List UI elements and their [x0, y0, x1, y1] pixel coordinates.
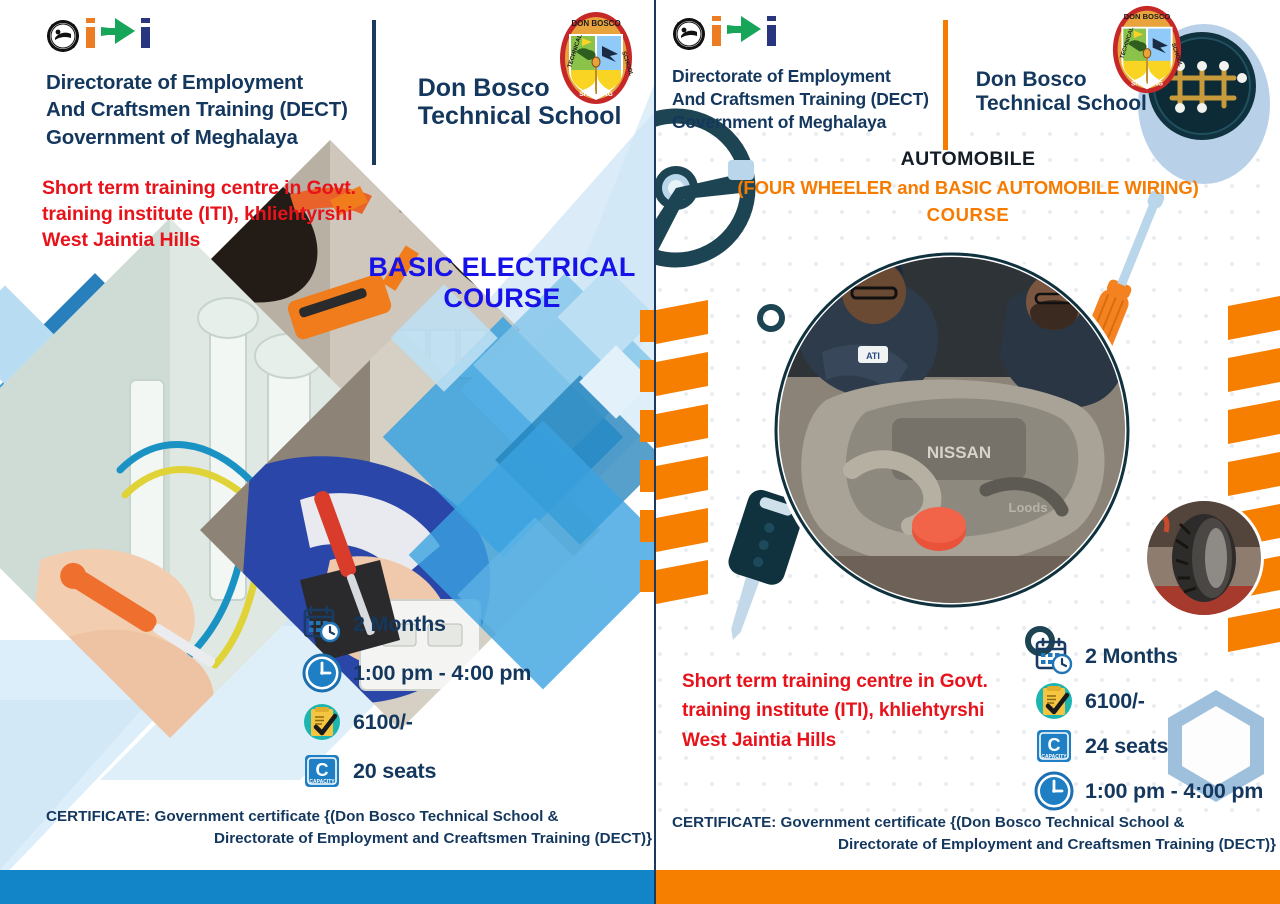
info-label-capacity: 24 seats [1085, 734, 1168, 759]
iti-letter-t-green-icon [101, 18, 135, 53]
location-line-3: West Jaintia Hills [42, 228, 472, 254]
iti-letter-i-orange-icon [85, 18, 96, 53]
svg-text:SHILLONG: SHILLONG [1131, 81, 1163, 88]
info-label-timing: 1:00 pm - 4:00 pm [1085, 779, 1263, 804]
right-header: Directorate of Employment And Craftsmen … [656, 0, 1280, 150]
clock-icon [302, 653, 342, 693]
capacity-icon: C CAPACITY [1034, 726, 1074, 766]
iti-letter-i-orange-icon [711, 16, 722, 51]
iti-logo [46, 18, 348, 53]
don-bosco-crest: DON BOSCO SHILLONG TECHNICAL SCHOOL [558, 8, 634, 108]
svg-text:C: C [1048, 735, 1061, 755]
left-course-flyer: Directorate of Employment And Craftsmen … [0, 0, 656, 904]
svg-text:C: C [316, 760, 329, 780]
left-certificate-text: CERTIFICATE: Government certificate {(Do… [38, 806, 652, 849]
svg-text:NISSAN: NISSAN [927, 443, 991, 462]
iti-logo [672, 16, 929, 51]
right-bottom-bar [656, 870, 1280, 904]
location-line-3: West Jaintia Hills [682, 726, 1042, 755]
info-label-fees: 6100/- [1085, 689, 1145, 714]
info-row-duration: 2 Months [302, 604, 531, 644]
svg-text:DON BOSCO: DON BOSCO [1124, 12, 1171, 21]
right-dept-block: Directorate of Employment And Craftsmen … [672, 16, 929, 134]
dept-line-3: Government of Meghalaya [672, 111, 929, 134]
svg-text:CAPACITY: CAPACITY [309, 779, 335, 785]
calendar-clock-icon [302, 604, 342, 644]
right-location-text: Short term training centre in Govt. trai… [682, 667, 1042, 755]
info-label-capacity: 20 seats [353, 759, 436, 784]
location-line-2: training institute (ITI), khliehtyrshi [42, 202, 472, 228]
right-info-list: 2 Months 6100/- [1034, 636, 1263, 816]
iti-letter-i-navy-icon [766, 16, 777, 51]
info-row-capacity: C CAPACITY 20 seats [302, 751, 531, 791]
right-header-divider [943, 20, 948, 150]
info-row-timing: 1:00 pm - 4:00 pm [1034, 771, 1263, 811]
left-header-divider [372, 20, 376, 165]
poster-root: Directorate of Employment And Craftsmen … [0, 0, 1280, 904]
info-label-duration: 2 Months [353, 612, 446, 637]
clock-icon [1034, 771, 1074, 811]
left-dept-block: Directorate of Employment And Craftsmen … [46, 18, 348, 151]
location-line-1: Short term training centre in Govt. [42, 176, 472, 202]
certificate-line-2: Directorate of Employment and Creaftsmen… [666, 834, 1276, 856]
svg-text:Loods: Loods [1009, 500, 1048, 515]
dept-line-2: And Craftsmen Training (DECT) [46, 96, 348, 123]
fees-icon [302, 702, 342, 742]
iti-gear-emblem-icon [672, 17, 706, 51]
info-row-capacity: C CAPACITY 24 seats [1034, 726, 1263, 766]
dept-line-1: Directorate of Employment [672, 65, 929, 88]
left-location-text: Short term training centre in Govt. trai… [42, 176, 472, 254]
location-line-1: Short term training centre in Govt. [682, 667, 1042, 696]
certificate-line-1: CERTIFICATE: Government certificate {(Do… [38, 806, 652, 828]
location-line-2: training institute (ITI), khliehtyrshi [682, 696, 1042, 725]
left-info-list: 2 Months 1:00 pm - 4:00 pm [302, 604, 531, 800]
left-dept-name: Directorate of Employment And Craftsmen … [46, 69, 348, 151]
right-course-title: AUTOMOBILE (FOUR WHEELER and BASIC AUTOM… [656, 148, 1280, 226]
don-bosco-crest: DON BOSCO SHILLONG TECHNICAL SCHOOL [1111, 2, 1183, 97]
left-course-title: BASIC ELECTRICAL COURSE [352, 252, 652, 314]
left-bottom-bar [0, 870, 654, 904]
info-row-fees: 6100/- [1034, 681, 1263, 721]
info-label-fees: 6100/- [353, 710, 413, 735]
capacity-icon: C CAPACITY [302, 751, 342, 791]
certificate-line-2: Directorate of Employment and Creaftsmen… [38, 828, 652, 850]
fees-icon [1034, 681, 1074, 721]
svg-text:SHILLONG: SHILLONG [579, 91, 613, 98]
svg-text:DON BOSCO: DON BOSCO [571, 19, 620, 28]
svg-text:CAPACITY: CAPACITY [1041, 754, 1067, 760]
svg-text:ATI: ATI [866, 351, 880, 361]
iti-letter-i-navy-icon [140, 18, 151, 53]
dept-line-2: And Craftsmen Training (DECT) [672, 88, 929, 111]
course-title-line-3: COURSE [656, 204, 1280, 226]
calendar-clock-icon [1034, 636, 1074, 676]
dept-line-1: Directorate of Employment [46, 69, 348, 96]
info-row-fees: 6100/- [302, 702, 531, 742]
info-row-timing: 1:00 pm - 4:00 pm [302, 653, 531, 693]
iti-gear-emblem-icon [46, 19, 80, 53]
certificate-line-1: CERTIFICATE: Government certificate {(Do… [666, 812, 1276, 834]
right-dept-name: Directorate of Employment And Craftsmen … [672, 65, 929, 134]
course-title-line-1: AUTOMOBILE [656, 148, 1280, 171]
info-label-timing: 1:00 pm - 4:00 pm [353, 661, 531, 686]
iti-letter-t-green-icon [727, 16, 761, 51]
info-label-duration: 2 Months [1085, 644, 1178, 669]
left-header: Directorate of Employment And Craftsmen … [0, 0, 654, 165]
right-certificate-text: CERTIFICATE: Government certificate {(Do… [666, 812, 1276, 855]
right-course-flyer: ATI NISSAN Loods [656, 0, 1280, 904]
info-row-duration: 2 Months [1034, 636, 1263, 676]
course-title-line-2: (FOUR WHEELER and BASIC AUTOMOBILE WIRIN… [656, 177, 1280, 199]
course-title-line-1: BASIC ELECTRICAL [352, 252, 652, 283]
dept-line-3: Government of Meghalaya [46, 124, 348, 151]
course-title-line-2: COURSE [352, 283, 652, 314]
